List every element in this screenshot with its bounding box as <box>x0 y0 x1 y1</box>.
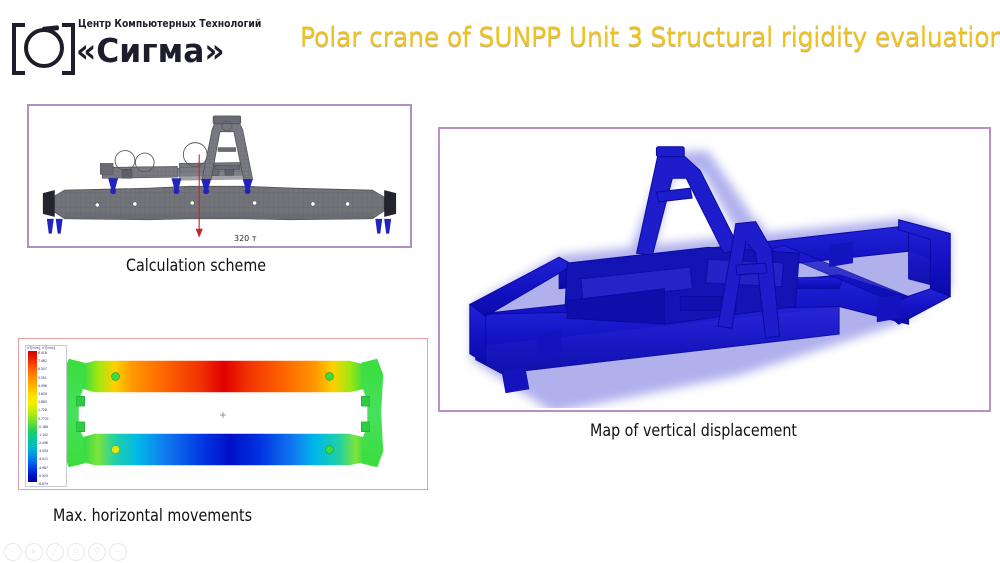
caption-calculation-scheme: Calculation scheme <box>126 256 266 276</box>
minus-icon[interactable]: − <box>109 543 127 561</box>
slideshow-toolbar[interactable]: ‹▸╱⎙⚲− <box>4 543 134 561</box>
logo-sigma-icon <box>24 28 64 68</box>
legend-tick-value: 2.683 <box>38 398 65 406</box>
legend-tick-value: 3.639 <box>38 390 65 398</box>
back-icon[interactable]: ‹ <box>4 543 22 561</box>
legend-tick-value: -5.923 <box>38 472 65 480</box>
figure-calculation-scheme: 320 т <box>27 104 412 248</box>
horizontal-movements-image: UT[mm], UT[mm] 8.4187.4626.5075.5514.596… <box>21 341 425 487</box>
legend-colorbar <box>28 351 37 482</box>
legend-tick-value: 6.507 <box>38 365 65 373</box>
company-logo: Центр Компьютерных Технологий «Сигма» <box>10 18 250 78</box>
legend-tick-value: 8.418 <box>38 349 65 357</box>
horizontal-movements-contour <box>21 341 425 487</box>
logo-company-name: «Сигма» <box>76 31 225 70</box>
caption-vertical-displacement: Map of vertical displacement <box>590 421 797 441</box>
legend-tick-labels: 8.4187.4626.5075.5514.5963.6392.6831.728… <box>38 349 65 485</box>
legend-tick-value: 0.7721 <box>38 415 65 423</box>
legend-tick-value: -2.096 <box>38 439 65 447</box>
calculation-scheme-image: 320 т <box>31 108 408 244</box>
legend-tick-value: -6.879 <box>38 480 65 487</box>
legend-tick-value: 5.551 <box>38 374 65 382</box>
vertical-displacement-image <box>442 131 987 408</box>
search-icon[interactable]: ⚲ <box>88 543 106 561</box>
figure-horizontal-movements: UT[mm], UT[mm] 8.4187.4626.5075.5514.596… <box>18 338 428 490</box>
legend-tick-value: 4.596 <box>38 382 65 390</box>
figure-vertical-displacement <box>438 127 991 412</box>
vertical-displacement-drawing <box>442 131 987 408</box>
play-icon[interactable]: ▸ <box>25 543 43 561</box>
legend-tick-value: 1.728 <box>38 406 65 414</box>
legend-tick-value: -4.967 <box>38 464 65 472</box>
print-icon[interactable]: ⎙ <box>67 543 85 561</box>
legend-tick-value: -4.011 <box>38 455 65 463</box>
pen-icon[interactable]: ╱ <box>46 543 64 561</box>
load-label: 320 т <box>234 234 256 243</box>
caption-horizontal-movements: Max. horizontal movements <box>53 506 252 526</box>
logo-sigma-tail-icon <box>42 25 59 32</box>
logo-tagline: Центр Компьютерных Технологий <box>78 18 261 30</box>
page-title: Polar crane of SUNPP Unit 3 Structural r… <box>300 22 942 53</box>
legend-tick-value: -1.142 <box>38 431 65 439</box>
legend-tick-value: 7.462 <box>38 357 65 365</box>
legend-tick-value: -0.186 <box>38 423 65 431</box>
color-legend: UT[mm], UT[mm] 8.4187.4626.5075.5514.596… <box>25 345 67 487</box>
legend-tick-value: -3.054 <box>38 447 65 455</box>
presentation-slide: Polar crane of SUNPP Unit 3 Structural r… <box>0 0 1000 563</box>
calculation-scheme-drawing <box>31 108 408 244</box>
